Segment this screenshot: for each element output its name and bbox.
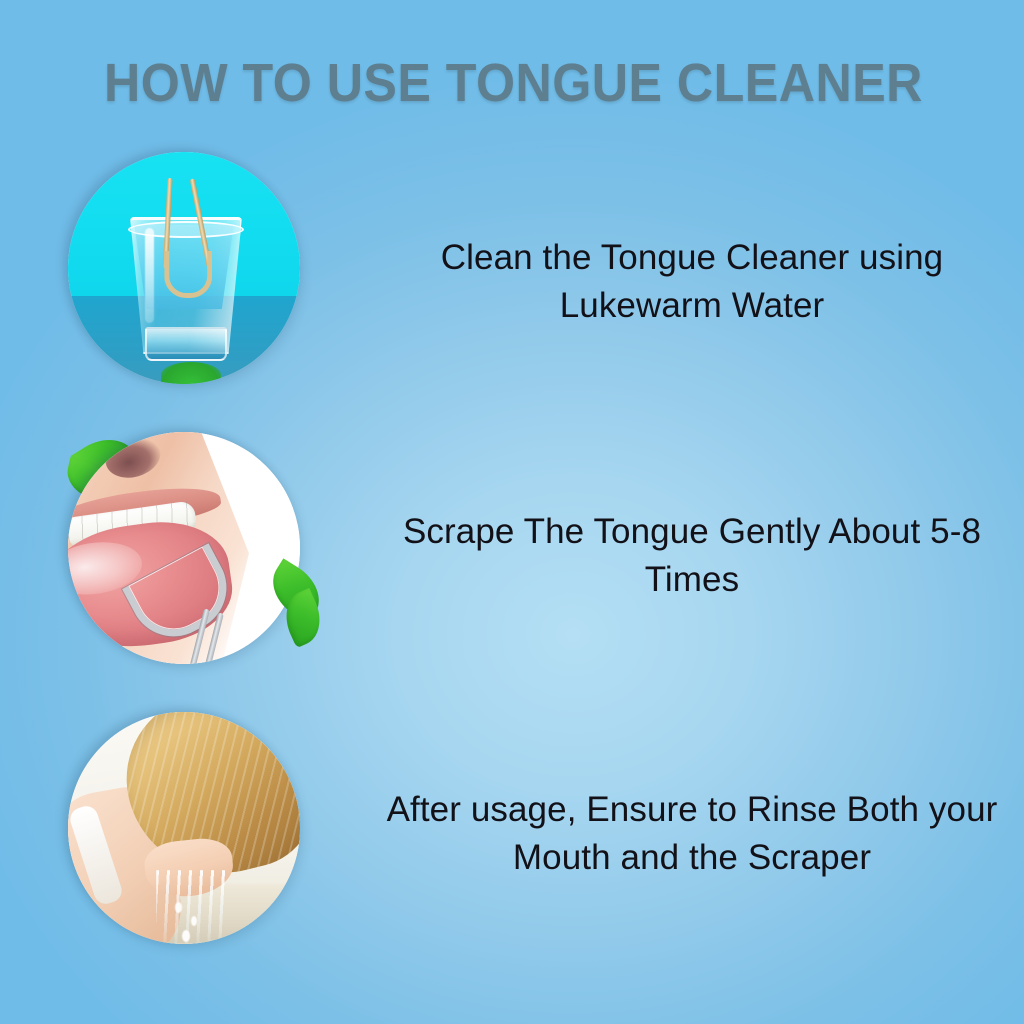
- step-row-2: Scrape The Tongue Gently About 5-8 Times: [0, 428, 1024, 678]
- step-2-caption: Scrape The Tongue Gently About 5-8 Times: [372, 508, 1012, 604]
- water-droplet-3: [182, 930, 190, 942]
- step-2-image-wrap: [62, 428, 312, 678]
- water-droplet-1: [175, 902, 182, 913]
- infographic-page: HOW TO USE TONGUE CLEANER: [0, 0, 1024, 1024]
- step-3-caption: After usage, Ensure to Rinse Both your M…: [372, 786, 1012, 882]
- step-1-image-wrap: [62, 148, 312, 398]
- step-row-3: After usage, Ensure to Rinse Both your M…: [0, 708, 1024, 958]
- metal-tongue-scraper-icon: [133, 562, 253, 664]
- step-3-image-wrap: [62, 708, 312, 958]
- step-1-image-glass-of-water: [68, 152, 300, 384]
- step-3-image-rinsing-mouth: [68, 712, 300, 944]
- page-title: HOW TO USE TONGUE CLEANER: [37, 52, 989, 114]
- mint-leaf-under-glass-icon: [161, 362, 221, 384]
- falling-water-stream: [156, 870, 226, 944]
- glass-highlight: [145, 228, 154, 323]
- scraper-u-bend: [164, 251, 212, 298]
- glass-base: [145, 327, 227, 361]
- step-2-image-scraping-tongue: [68, 432, 300, 664]
- tongue-cleaner-in-glass-icon: [158, 178, 214, 296]
- step-1-caption: Clean the Tongue Cleaner using Lukewarm …: [372, 234, 1012, 330]
- step-row-1: Clean the Tongue Cleaner using Lukewarm …: [0, 148, 1024, 398]
